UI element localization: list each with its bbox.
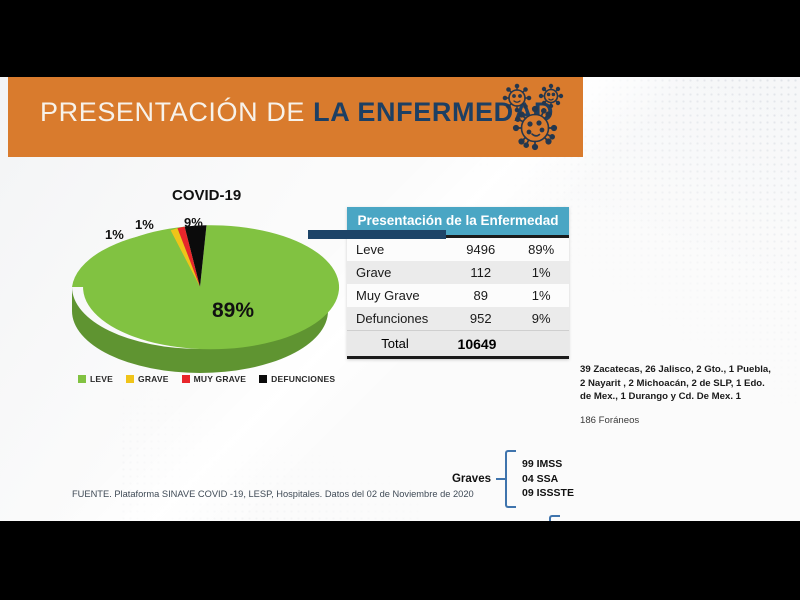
legend-swatch-muy-grave: [182, 375, 190, 383]
table-cell-label: Leve: [347, 242, 448, 257]
legend-label-leve: LEVE: [90, 374, 113, 384]
page-title-light: PRESENTACIÓN DE: [40, 97, 313, 127]
pie-chart-graphic: [60, 217, 340, 382]
table-cell-label: Muy Grave: [347, 288, 448, 303]
states-note-line-2: 2 Nayarit , 2 Michoacán, 2 de SLP, 1 Edo…: [580, 377, 798, 391]
states-note-line-1: 39 Zacatecas, 26 Jalisco, 2 Gto., 1 Pueb…: [580, 363, 798, 377]
legend-swatch-grave: [126, 375, 134, 383]
pie-chart: COVID-19: [60, 187, 340, 397]
legend-label-muy-grave: MUY GRAVE: [194, 374, 247, 384]
slide-header-band: PRESENTACIÓN DE LA ENFERMEDAD: [8, 77, 583, 157]
table-total-value: 10649: [443, 336, 511, 352]
table-cell-label: Defunciones: [347, 311, 448, 326]
slide-canvas: PRESENTACIÓN DE LA ENFERMEDAD: [0, 77, 800, 521]
table-cell-pct: 89%: [513, 242, 569, 257]
states-note-line-3: de Mex., 1 Durango y Cd. De Mex. 1: [580, 390, 798, 404]
table-cell-label: Grave: [347, 265, 448, 280]
table-cell-pct: 9%: [513, 311, 569, 326]
graves-value-issste: 09 ISSSTE: [522, 486, 574, 500]
legend-swatch-defunciones: [259, 375, 267, 383]
legend-item-grave: GRAVE: [126, 374, 169, 384]
table-cell-value: 112: [448, 265, 513, 280]
graves-bracket-icon: [505, 450, 516, 508]
table-cell-value: 952: [448, 311, 513, 326]
graves-bracket-dash: [496, 478, 505, 480]
chart-legend: LEVE GRAVE MUY GRAVE DEFUNCIONES: [78, 374, 335, 384]
table-total-row: Total 10649: [347, 330, 569, 359]
legend-item-muy-grave: MUY GRAVE: [182, 374, 247, 384]
table-row: Defunciones 952 9%: [347, 307, 569, 330]
legend-label-grave: GRAVE: [138, 374, 169, 384]
graves-value-ssa: 04 SSA: [522, 472, 574, 486]
table-row: Muy Grave 89 1%: [347, 284, 569, 307]
graves-label: Graves: [437, 473, 491, 485]
virus-icon: [499, 83, 569, 151]
pie-label-grave: 1%: [105, 227, 124, 242]
pie-slices: [72, 225, 339, 349]
muy-graves-bracket-group: 61 IMSS 23 SSA 05 ISSSTE: [540, 517, 618, 521]
pie-label-defunciones: 9%: [184, 215, 203, 230]
states-note-body: 39 Zacatecas, 26 Jalisco, 2 Gto., 1 Pueb…: [580, 363, 798, 404]
table-cell-pct: 1%: [513, 265, 569, 280]
table-cell-value: 9496: [448, 242, 513, 257]
graves-value-imss: 99 IMSS: [522, 457, 574, 471]
legend-swatch-leve: [78, 375, 86, 383]
legend-item-defunciones: DEFUNCIONES: [259, 374, 335, 384]
muy-graves-bracket-icon: [549, 515, 560, 521]
table-row: Grave 112 1%: [347, 261, 569, 284]
chart-title: COVID-19: [172, 187, 241, 204]
table-cell-value: 89: [448, 288, 513, 303]
foraneos-count: 186 Foráneos: [580, 415, 798, 426]
page-title: PRESENTACIÓN DE LA ENFERMEDAD: [40, 97, 554, 128]
pie-label-leve: 89%: [212, 299, 254, 323]
muy-graves-breakdown: Muy graves 61 IMSS 23 SSA 05 ISSSTE: [437, 517, 618, 521]
graves-bracket-group: 99 IMSS 04 SSA 09 ISSSTE: [496, 452, 574, 506]
legend-label-defunciones: DEFUNCIONES: [271, 374, 335, 384]
table-total-label: Total: [347, 336, 443, 351]
states-note: 39 Zacatecas, 26 Jalisco, 2 Gto., 1 Pueb…: [580, 363, 798, 426]
video-frame: PRESENTACIÓN DE LA ENFERMEDAD: [0, 0, 800, 600]
table-cell-pct: 1%: [513, 288, 569, 303]
title-accent-bar: [308, 230, 446, 239]
pie-label-muy-grave: 1%: [135, 217, 154, 232]
table-row: Leve 9496 89%: [347, 238, 569, 261]
source-footnote: FUENTE. Plataforma SINAVE COVID -19, LES…: [72, 489, 474, 499]
legend-item-leve: LEVE: [78, 374, 113, 384]
graves-values: 99 IMSS 04 SSA 09 ISSSTE: [522, 457, 574, 500]
